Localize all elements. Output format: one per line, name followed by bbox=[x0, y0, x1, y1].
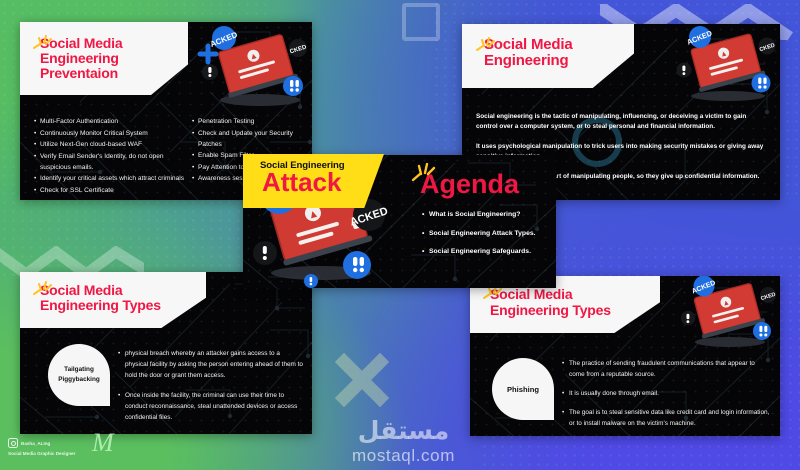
slide-types-phishing[interactable]: Social Media Engineering Types bbox=[470, 276, 780, 436]
list-item: Check and Update your Security Patches bbox=[198, 128, 310, 150]
spark-burst-icon bbox=[31, 281, 53, 297]
list-item: Identify your critical assets which attr… bbox=[40, 173, 189, 184]
pill-line-2: Piggybacking bbox=[58, 375, 100, 385]
tailgating-title-line1: Social Media bbox=[40, 283, 206, 298]
list-item: The practice of sending fraudulent commu… bbox=[569, 358, 770, 380]
slide-types-tailgating[interactable]: Social Media Engineering Types Tailgatin… bbox=[20, 272, 312, 434]
spark-burst-icon bbox=[31, 35, 53, 51]
hacked-laptop-illustration: ACKED CKED bbox=[672, 28, 780, 108]
prevention-title-line3: Preventaion bbox=[40, 66, 188, 81]
portfolio-canvas: Social Media Engineering Preventaion bbox=[0, 0, 800, 470]
pill-line-1: Phishing bbox=[507, 385, 539, 394]
list-item: Multi-Factor Authentication bbox=[40, 116, 189, 127]
agenda-heading: Agenda bbox=[420, 171, 554, 198]
spark-burst-icon bbox=[410, 163, 436, 183]
list-item: Social Engineering Safeguards. bbox=[429, 248, 531, 255]
phishing-label-pill: Phishing bbox=[492, 358, 554, 420]
prevention-title-line2: Engineering bbox=[40, 51, 188, 66]
intro-title-line2: Engineering bbox=[484, 53, 634, 69]
list-item: Social Engineering Attack Types. bbox=[429, 230, 536, 237]
agenda-items: •What is Social Engineering? •Social Eng… bbox=[422, 210, 554, 257]
list-item: It is usually done through email. bbox=[569, 388, 770, 399]
list-item: Penetration Testing bbox=[198, 116, 310, 127]
list-item: What is Social Engineering? bbox=[429, 211, 520, 218]
phishing-bullets: •The practice of sending fraudulent comm… bbox=[562, 358, 770, 429]
list-item: Utilize Next-Gen cloud-based WAF bbox=[40, 139, 189, 150]
list-item: The goal is to steal sensitive data like… bbox=[569, 407, 770, 429]
intro-title-line1: Social Media bbox=[484, 37, 634, 53]
intro-paragraph-1: Social engineering is the tactic of mani… bbox=[476, 112, 768, 133]
list-item: Once inside the facility, the criminal c… bbox=[125, 390, 304, 423]
prevention-title-line1: Social Media bbox=[40, 36, 188, 51]
pill-line-1: Tailgating bbox=[64, 365, 94, 375]
hacked-laptop-illustration: ACKED CKED bbox=[676, 278, 780, 354]
list-item: physical breach whereby an attacker gain… bbox=[125, 348, 304, 381]
phishing-title-line1: Social Media bbox=[490, 287, 660, 302]
prevention-title-panel: Social Media Engineering Preventaion bbox=[20, 22, 188, 95]
spark-burst-icon bbox=[474, 37, 496, 53]
list-item: Continuously Monitor Critical System bbox=[40, 128, 189, 139]
hacked-laptop-illustration: ACKED CKED bbox=[198, 28, 312, 114]
tailgating-label-pill: Tailgating Piggybacking bbox=[48, 344, 110, 406]
list-item: Verify Email Sender's Identity, do not o… bbox=[40, 151, 189, 173]
tailgating-bullets: •physical breach whereby an attacker gai… bbox=[118, 348, 304, 423]
prevention-left-bullets: •Multi-Factor Authentication •Continuous… bbox=[34, 116, 189, 196]
list-item: Check for SSL Certificate bbox=[40, 185, 189, 196]
phishing-title-line2: Engineering Types bbox=[490, 303, 660, 318]
attack-banner-title: Attack bbox=[262, 170, 345, 195]
tailgating-title-line2: Engineering Types bbox=[40, 298, 206, 313]
attack-banner: Social Engineering Attack bbox=[243, 154, 384, 208]
